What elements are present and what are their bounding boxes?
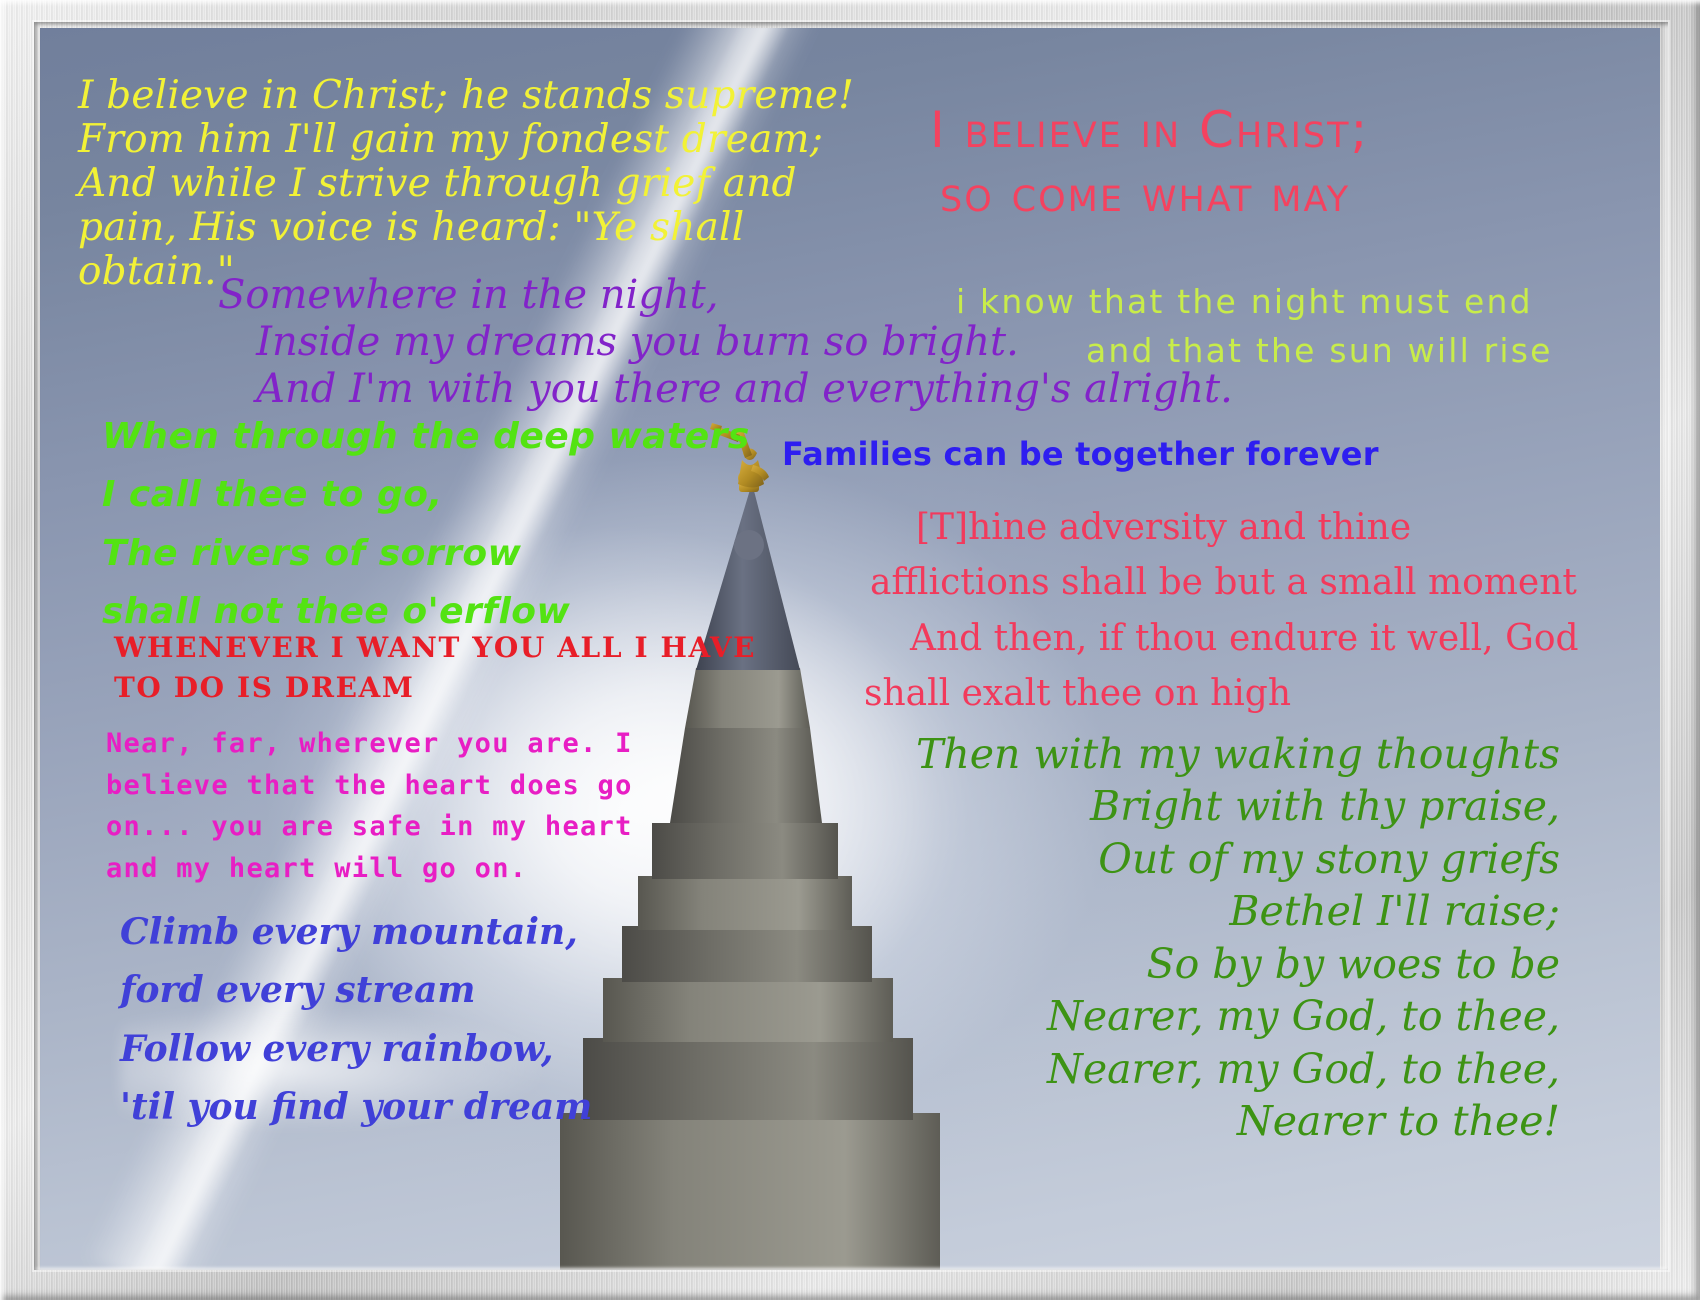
verse-line: Follow every rainbow, bbox=[120, 1028, 554, 1070]
headline-line-2: so come what may bbox=[930, 162, 1369, 226]
text-nearer-my-god-to-thee: Then with my waking thoughtsBright with … bbox=[800, 728, 1560, 1148]
text-believe-in-christ-verse: I believe in Christ; he stands supreme! … bbox=[78, 74, 854, 294]
verse-line: [T]hine adversity and thine bbox=[858, 500, 1579, 555]
verse-line: on... you are safe in my heart bbox=[106, 811, 633, 842]
verse-line: And while I strive through grief and bbox=[78, 161, 797, 206]
verse-line: From him I'll gain my fondest dream; bbox=[78, 117, 823, 162]
verse-line: shall not thee o'erflow bbox=[102, 591, 570, 632]
verse-line: ford every stream bbox=[120, 969, 476, 1011]
verse-line: i know that the night must end bbox=[956, 282, 1533, 321]
text-thine-adversity: [T]hine adversity and thineafflictions s… bbox=[858, 500, 1579, 722]
headline-line-1: I believe in Christ; bbox=[930, 101, 1369, 159]
verse-line: And then, if thou endure it well, God bbox=[858, 611, 1579, 666]
verse-line: and my heart will go on. bbox=[106, 853, 527, 884]
verse-line: Near, far, wherever you are. I bbox=[106, 728, 633, 759]
verse-line: Bright with thy praise, bbox=[800, 780, 1560, 832]
verse-line: I believe in Christ; he stands supreme! bbox=[78, 73, 854, 118]
verse-line: Out of my stony griefs bbox=[800, 833, 1560, 885]
verse-line: So by by woes to be bbox=[800, 938, 1560, 990]
verse-line: The rivers of sorrow bbox=[102, 533, 521, 574]
verse-line: believe that the heart does go bbox=[106, 770, 633, 801]
text-families-can-be-together-forever: Families can be together forever bbox=[782, 438, 1379, 471]
verse-line: WHENEVER I WANT YOU ALL I HAVE bbox=[114, 631, 756, 664]
text-deep-waters: When through the deep waters I call thee… bbox=[102, 408, 750, 641]
text-climb-every-mountain: Climb every mountain, ford every stream … bbox=[120, 903, 592, 1136]
verse-line: Nearer, my God, to thee, bbox=[800, 1043, 1560, 1095]
verse-line: I call thee to go, bbox=[102, 474, 443, 515]
poster-headline: I believe in Christ;so come what may bbox=[930, 98, 1369, 226]
text-night-must-end: i know that the night must endand that t… bbox=[956, 278, 1553, 376]
verse-line: Somewhere in the night, bbox=[218, 272, 718, 318]
verse-line: pain, His voice is heard: "Ye shall bbox=[78, 205, 744, 250]
verse-line: afflictions shall be but a small moment bbox=[858, 555, 1579, 610]
verse-line: When through the deep waters bbox=[102, 416, 750, 457]
verse-line: Bethel I'll raise; bbox=[800, 885, 1560, 937]
text-all-i-have-to-do-is-dream: WHENEVER I WANT YOU ALL I HAVE TO DO IS … bbox=[114, 628, 756, 708]
verse-line: Inside my dreams you burn so bright. bbox=[218, 319, 1019, 365]
text-my-heart-will-go-on: Near, far, wherever you are. I believe t… bbox=[106, 723, 633, 889]
verse-line: shall exalt thee on high bbox=[858, 666, 1579, 721]
verse-line: Climb every mountain, bbox=[120, 911, 578, 953]
verse-line: 'til you find your dream bbox=[120, 1086, 592, 1128]
verse-line: obtain." bbox=[78, 249, 235, 294]
verse-line: Then with my waking thoughts bbox=[800, 728, 1560, 780]
verse-line: and that the sun will rise bbox=[956, 327, 1553, 376]
photo-canvas: I believe in Christ; he stands supreme! … bbox=[40, 28, 1660, 1270]
poster-image: I believe in Christ; he stands supreme! … bbox=[0, 0, 1700, 1300]
verse-line: Nearer to thee! bbox=[800, 1095, 1560, 1147]
verse-line: TO DO IS DREAM bbox=[114, 671, 414, 704]
verse-line: Nearer, my God, to thee, bbox=[800, 990, 1560, 1042]
